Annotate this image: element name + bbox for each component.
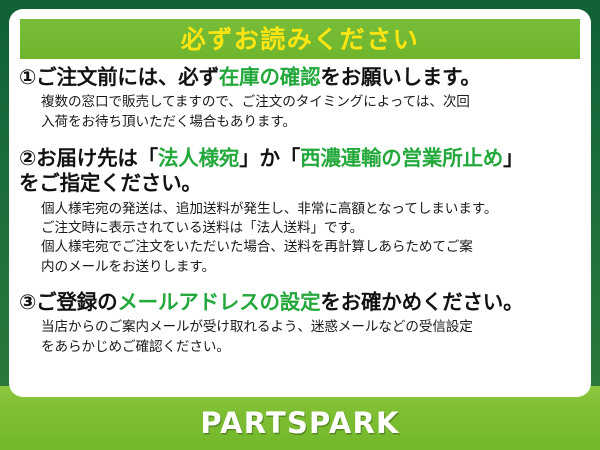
page-title: 必ずお読みください (181, 27, 420, 52)
footer-logo-area: PARTSPARK (0, 397, 600, 450)
notice-item-1-head-highlight: 在庫の確認 (219, 65, 321, 89)
notice-item-2-heading: ②お届け先は「法人様宛」か「西濃運輸の営業所止め」 をご指定ください。 (19, 146, 585, 197)
notice-item-1-head-part-0: ご注文前には、必ず (36, 65, 219, 89)
notice-card: 必ずお読みください ①ご注文前には、必ず在庫の確認をお願いします。 複数の窓口で… (9, 9, 591, 397)
brand-logo: PARTSPARK (200, 409, 399, 438)
notice-item-1-head-part-2: をお願いします。 (320, 65, 480, 89)
notice-item-3-head-part-2: をお確かめください。 (320, 290, 523, 314)
notice-item-3: ③ご登録のメールアドレスの設定をお確かめください。 当店からのご案内メールが受け… (9, 290, 591, 357)
notice-item-2: ②お届け先は「法人様宛」か「西濃運輸の営業所止め」 をご指定ください。 個人様宅… (9, 146, 591, 277)
notice-item-2-body: 個人様宅宛の発送は、追加送料が発生し、非常に高額となってしまいます。 ご注文時に… (19, 200, 585, 277)
notice-item-2-head-highlight-1: 法人様宛 (158, 146, 239, 170)
notice-item-1-marker: ① (19, 65, 36, 89)
notice-item-3-marker: ③ (19, 290, 36, 314)
notice-item-2-head-part-0: お届け先は「 (36, 146, 158, 170)
notice-item-1: ①ご注文前には、必ず在庫の確認をお願いします。 複数の窓口で販売してますので、ご… (9, 65, 591, 132)
title-bar: 必ずお読みください (20, 19, 580, 59)
notice-banner: 必ずお読みください ①ご注文前には、必ず在庫の確認をお願いします。 複数の窓口で… (0, 0, 600, 450)
notice-item-2-head-highlight-2: 西濃運輸の営業所止め (300, 146, 503, 170)
notice-item-2-marker: ② (19, 146, 36, 170)
notice-item-1-body: 複数の窓口で販売してますので、ご注文のタイミングによっては、次回 入荷をお待ち頂… (19, 93, 585, 132)
notice-item-1-heading: ①ご注文前には、必ず在庫の確認をお願いします。 (19, 65, 585, 90)
notice-item-3-body: 当店からのご案内メールが受け取れるよう、迷惑メールなどの受信設定 をあらかじめご… (19, 318, 585, 357)
notice-item-2-head-part-2: 」か「 (239, 146, 300, 170)
notice-item-3-heading: ③ご登録のメールアドレスの設定をお確かめください。 (19, 290, 585, 315)
notice-item-3-head-part-0: ご登録の (36, 290, 117, 314)
notice-item-3-head-highlight: メールアドレスの設定 (117, 290, 320, 314)
notice-list: ①ご注文前には、必ず在庫の確認をお願いします。 複数の窓口で販売してますので、ご… (9, 65, 591, 357)
